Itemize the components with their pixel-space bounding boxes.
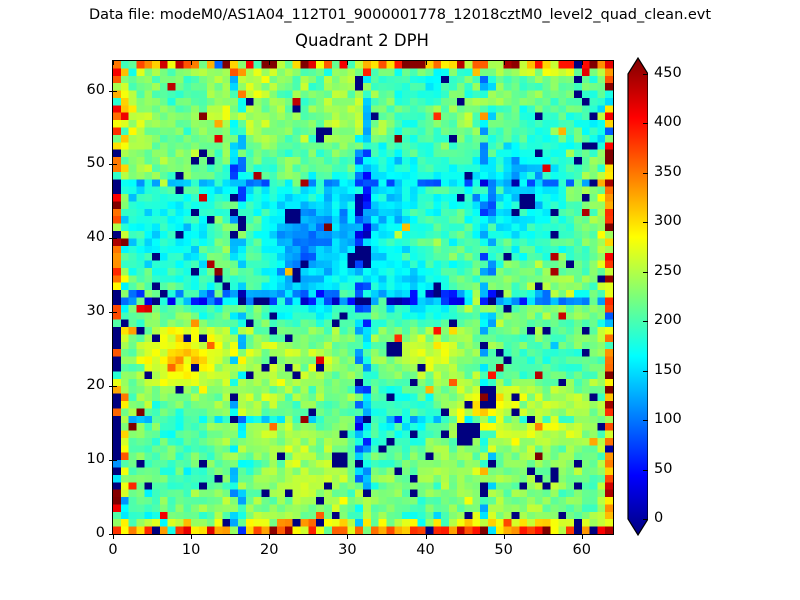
x-tick-mark-inner <box>191 61 192 65</box>
x-tick-mark <box>504 535 505 539</box>
colorbar-tick-label: 200 <box>654 312 682 329</box>
x-tick-mark-inner <box>113 61 114 65</box>
colorbar-tick-label: 50 <box>654 461 672 478</box>
x-tick-mark-inner <box>582 61 583 65</box>
colorbar-tick-mark <box>643 222 648 223</box>
y-tick-label: 20 <box>47 377 105 394</box>
colorbar-tick-label: 250 <box>654 263 682 280</box>
matplotlib-figure: Data file: modeM0/AS1A04_112T01_90000017… <box>0 0 800 600</box>
colorbar-tick-mark <box>643 519 648 520</box>
x-tick-mark <box>113 535 114 539</box>
colorbar-tick-label: 350 <box>654 164 682 181</box>
colorbar-tick-mark <box>643 470 648 471</box>
x-tick-mark-inner <box>347 61 348 65</box>
x-tick-label: 50 <box>474 542 534 559</box>
colorbar-tick-mark <box>643 272 648 273</box>
y-tick-mark-inner <box>113 312 117 313</box>
y-tick-mark-inner <box>113 91 117 92</box>
y-tick-mark-inner <box>113 238 117 239</box>
x-tick-label: 20 <box>239 542 299 559</box>
y-tick-label: 30 <box>47 303 105 320</box>
colorbar-tick-mark <box>643 321 648 322</box>
y-tick-label: 60 <box>47 82 105 99</box>
detector-heatmap-image <box>113 61 613 534</box>
y-tick-label: 40 <box>47 229 105 246</box>
x-tick-label: 10 <box>161 542 221 559</box>
y-tick-label: 50 <box>47 155 105 172</box>
x-tick-mark-inner <box>504 61 505 65</box>
x-tick-label: 0 <box>83 542 143 559</box>
colorbar-tick-label: 100 <box>654 411 682 428</box>
y-tick-mark-inner <box>113 460 117 461</box>
colorbar-tick-mark <box>643 173 648 174</box>
colorbar: 050100150200250300350400450 <box>624 56 648 537</box>
x-tick-mark <box>347 535 348 539</box>
page-title: Quadrant 2 DPH <box>112 30 612 52</box>
x-tick-mark <box>191 535 192 539</box>
y-tick-label: 10 <box>47 451 105 468</box>
y-tick-label: 0 <box>47 525 105 542</box>
data-file-suptitle: Data file: modeM0/AS1A04_112T01_90000017… <box>0 5 800 25</box>
x-tick-mark <box>426 535 427 539</box>
colorbar-tick-mark <box>643 420 648 421</box>
y-tick-mark-inner <box>113 534 117 535</box>
colorbar-tick-label: 300 <box>654 213 682 230</box>
y-tick-mark-inner <box>113 164 117 165</box>
x-tick-mark-inner <box>426 61 427 65</box>
x-tick-mark <box>269 535 270 539</box>
y-tick-mark-inner <box>113 386 117 387</box>
colorbar-tick-label: 400 <box>654 114 682 131</box>
x-tick-mark <box>582 535 583 539</box>
colorbar-tick-mark <box>643 371 648 372</box>
x-tick-label: 40 <box>396 542 456 559</box>
colorbar-tick-mark <box>643 74 648 75</box>
colorbar-tick-mark <box>643 123 648 124</box>
colorbar-gradient <box>624 56 648 537</box>
x-tick-label: 60 <box>552 542 612 559</box>
x-tick-label: 30 <box>317 542 377 559</box>
colorbar-tick-label: 450 <box>654 65 682 82</box>
colorbar-tick-label: 0 <box>654 510 663 527</box>
x-tick-mark-inner <box>269 61 270 65</box>
heatmap-axes: 0102030405060 0102030405060 <box>112 60 614 535</box>
colorbar-tick-label: 150 <box>654 362 682 379</box>
